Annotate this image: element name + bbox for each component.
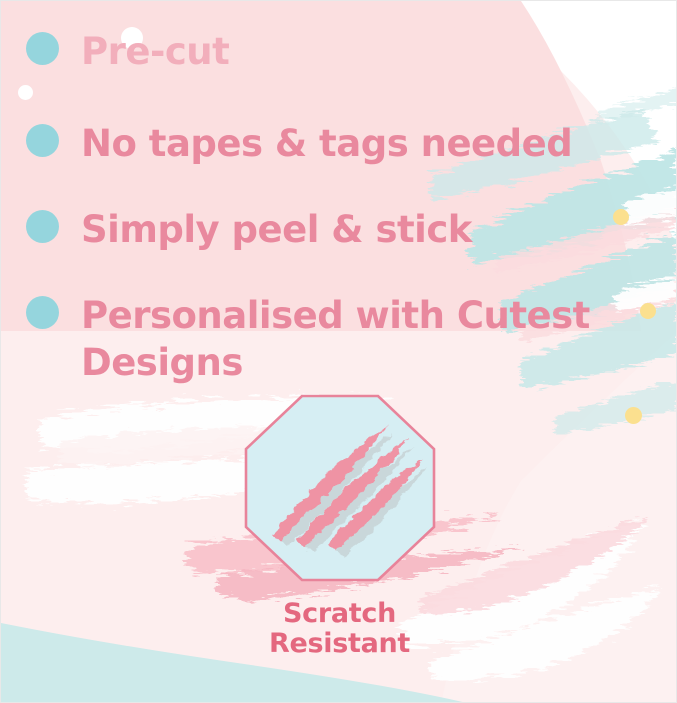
bullet-dot-icon [26,210,59,243]
badge-octagon-shape [243,393,437,583]
scratch-resistant-badge: Scratch Resistant [237,393,442,659]
feature-label: No tapes & tags needed [81,120,572,167]
badge-caption: Scratch Resistant [237,599,442,659]
white-dot-icon [18,85,33,100]
yellow-dot-icon [613,209,629,225]
feature-label: Pre-cut [81,28,229,75]
bullet-dot-icon [26,32,59,65]
promo-graphic-canvas: Pre-cut No tapes & tags needed Simply pe… [0,0,677,703]
feature-item-no-tapes-tags: No tapes & tags needed [26,120,572,167]
scratch-claw-marks-icon [243,393,437,583]
feature-item-personalised-designs: Personalised with Cutest Designs [26,292,590,386]
yellow-dot-icon [640,303,656,319]
bullet-dot-icon [26,124,59,157]
feature-label: Personalised with Cutest Designs [81,292,590,386]
feature-item-peel-stick: Simply peel & stick [26,206,472,253]
yellow-dot-icon [625,407,642,424]
bullet-dot-icon [26,296,59,329]
feature-item-pre-cut: Pre-cut [26,28,229,75]
feature-label: Simply peel & stick [81,206,472,253]
